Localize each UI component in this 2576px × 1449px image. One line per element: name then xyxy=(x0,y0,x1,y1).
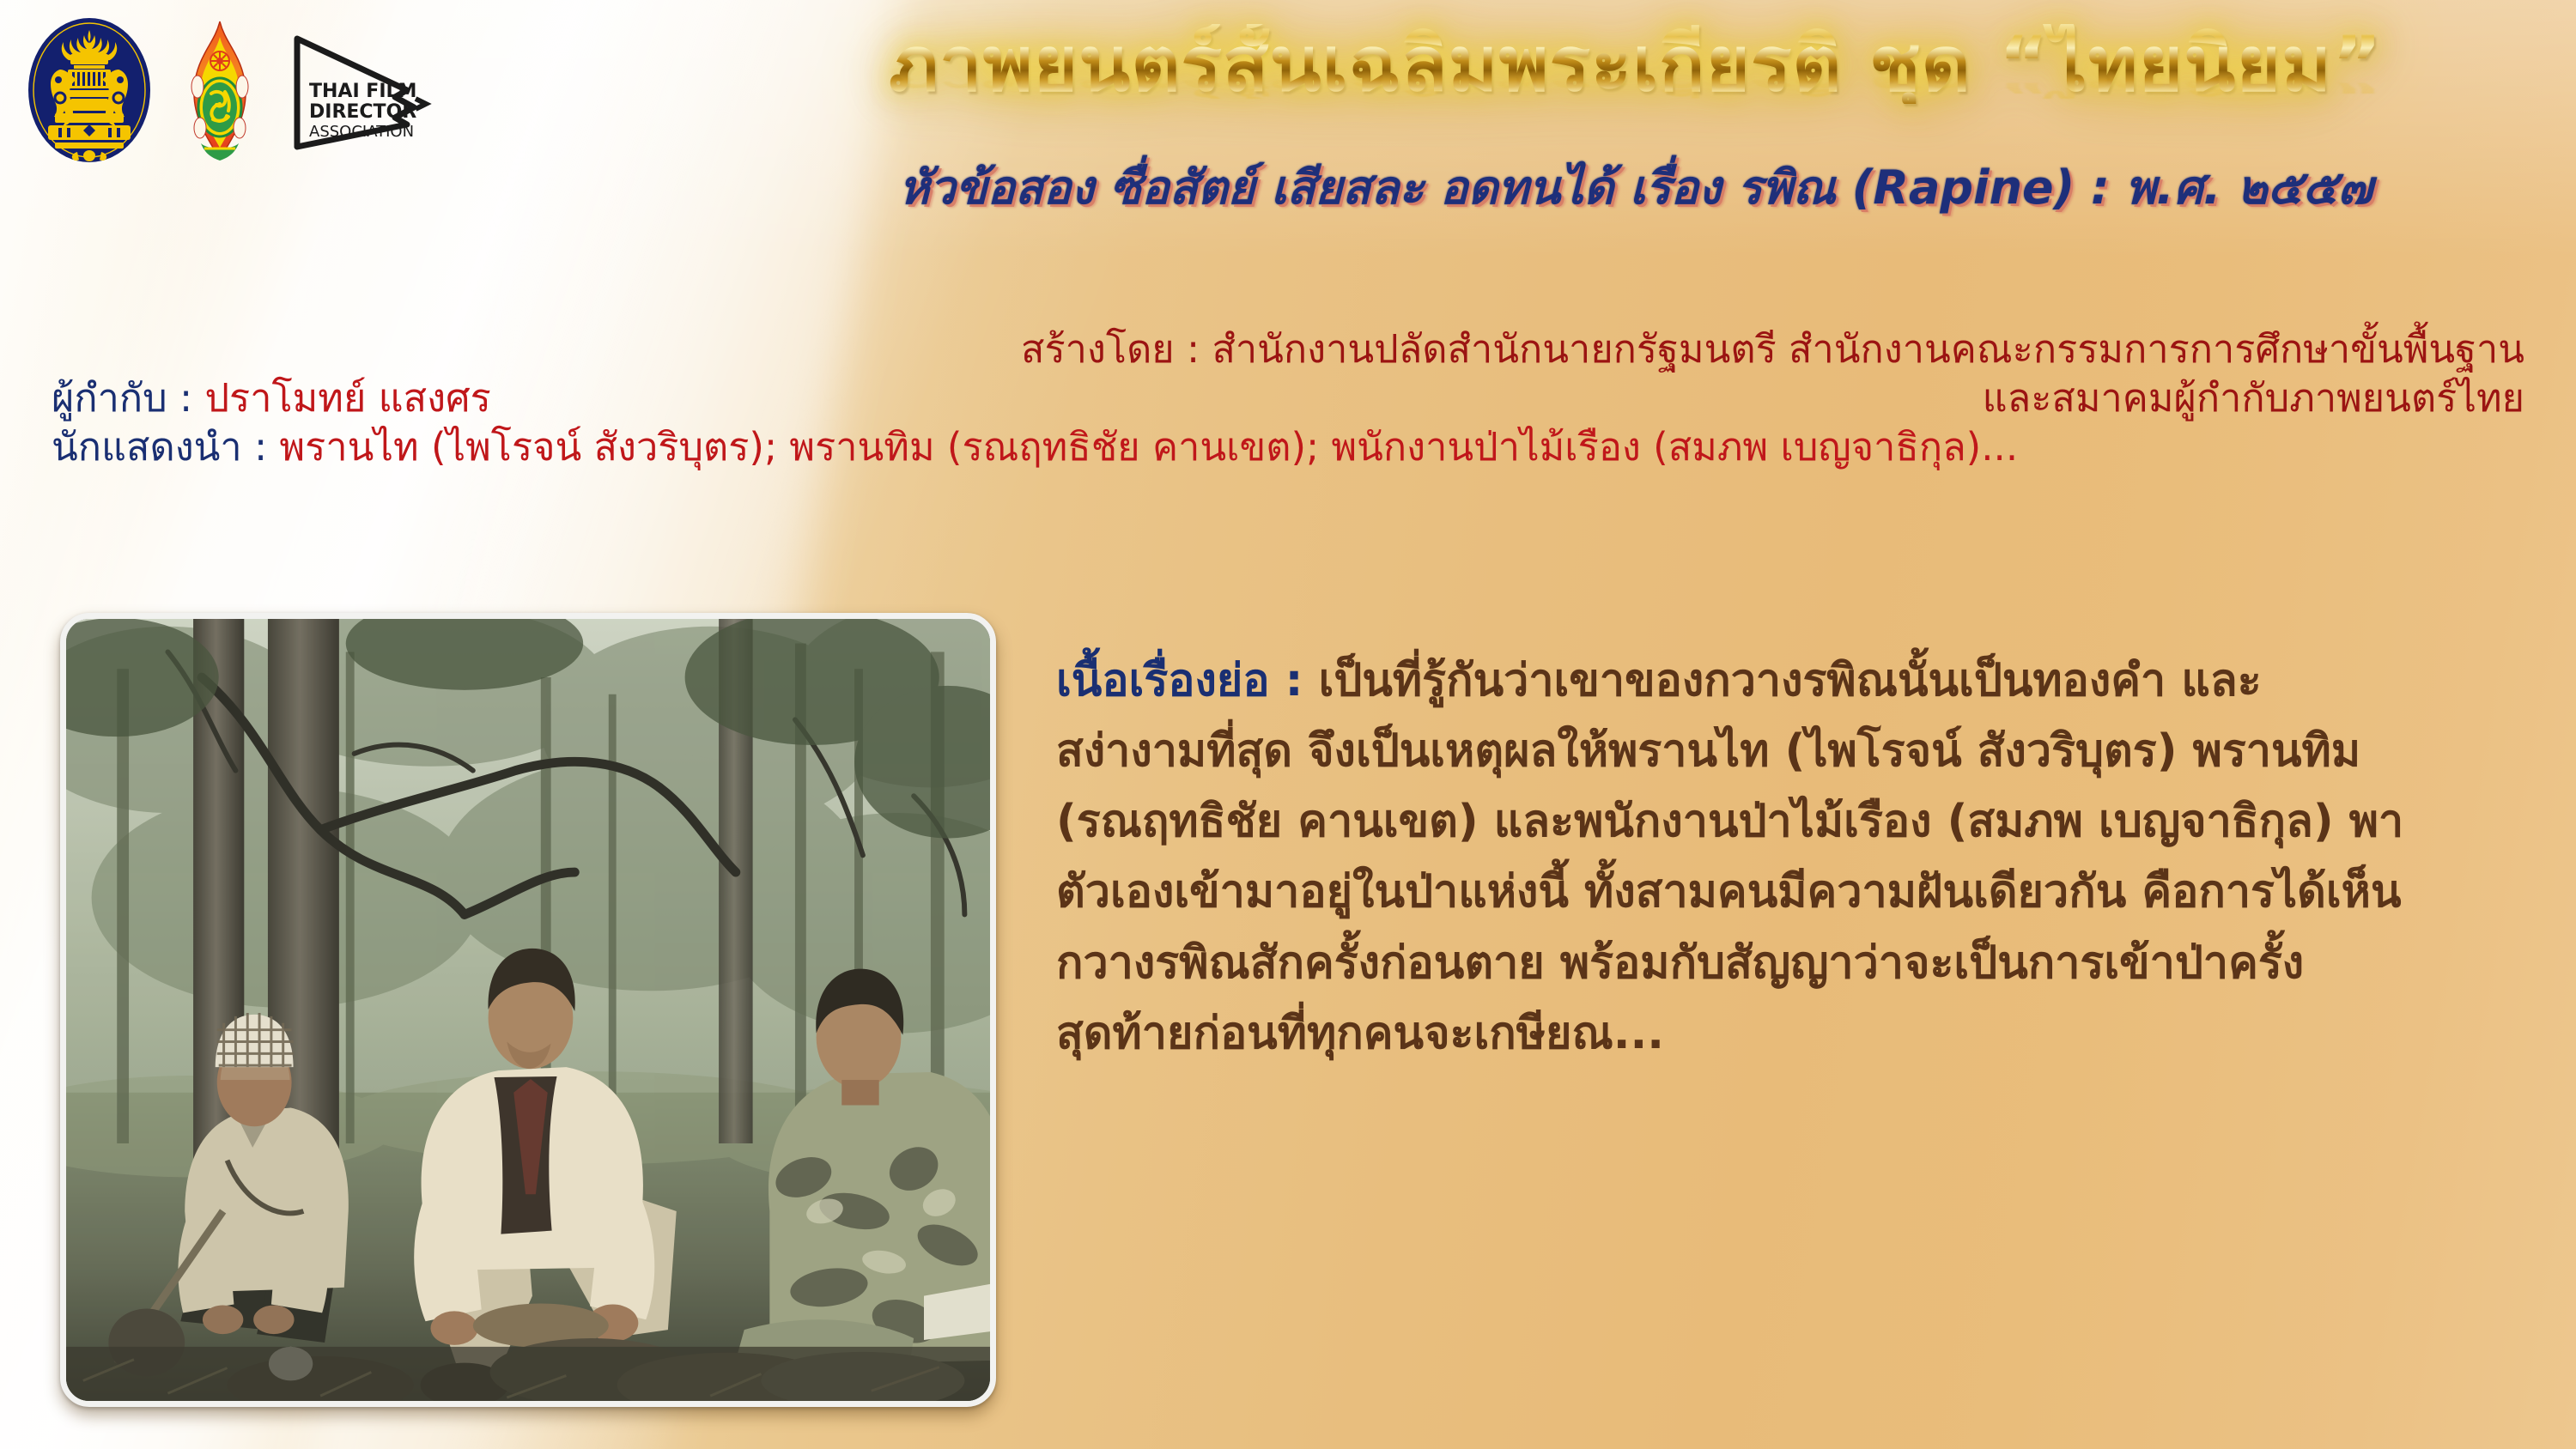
synopsis-line-6: สุดท้ายก่อนที่ทุกคนจะเกษียณ... xyxy=(1056,998,2550,1069)
logo-row: THAI FILM DIRECTOR ASSOCIATION xyxy=(26,17,437,163)
title-block: ภาพยนตร์สั้นเฉลิมพระเกียรติ ชุด “ไทยนิยม… xyxy=(713,24,2559,224)
director-label: ผู้กำกับ : xyxy=(52,375,204,421)
synopsis-label: เนื้อเรื่องย่อ : xyxy=(1056,655,1319,706)
synopsis-line-3: (รณฤทธิชัย คานเขต) และพนักงานป่าไม้เรือง… xyxy=(1056,786,2550,857)
synopsis-line-4: ตัวเองเข้ามาอยู่ในป่าแห่งนี้ ทั้งสามคนมี… xyxy=(1056,857,2550,927)
director-row: ผู้กำกับ : ปราโมทย์ แสงศร และสมาคมผู้กำก… xyxy=(52,373,2524,422)
tfda-line-3: ASSOCIATION xyxy=(309,123,414,141)
synopsis-line-2: สง่างามที่สุด จึงเป็นเหตุผลให้พรานไท (ไพ… xyxy=(1056,716,2550,786)
cast-entry: นักแสดงนำ : พรานไท (ไพโรจน์ สังวริบุตร);… xyxy=(52,422,2524,471)
thai-film-director-association-icon: THAI FILM DIRECTOR ASSOCIATION xyxy=(287,25,437,155)
director-value: ปราโมทย์ แสงศร xyxy=(204,375,490,421)
synopsis-line-1-text: เป็นที่รู้กันว่าเขาของกวางรพิณนั้นเป็นทอ… xyxy=(1319,655,2262,706)
synopsis-block: เนื้อเรื่องย่อ : เป็นที่รู้กันว่าเขาของก… xyxy=(1056,646,2550,1069)
cast-value: พรานไท (ไพโรจน์ สังวริบุตร); พรานทิม (รณ… xyxy=(279,424,2018,470)
film-still-photo xyxy=(60,613,996,1407)
producer-line: สร้างโดย : สำนักงานปลัดสำนักนายกรัฐมนตรี… xyxy=(52,324,2524,373)
cast-label: นักแสดงนำ : xyxy=(52,424,279,470)
page-subtitle: หัวข้อสอง ซื่อสัตย์ เสียสละ อดทนได้ เรื่… xyxy=(713,150,2559,224)
tfda-line-2: DIRECTOR xyxy=(309,101,416,123)
page-title: ภาพยนตร์สั้นเฉลิมพระเกียรติ ชุด “ไทยนิยม… xyxy=(713,24,2559,104)
synopsis-line-1: เนื้อเรื่องย่อ : เป็นที่รู้กันว่าเขาของก… xyxy=(1056,646,2550,716)
royal-thai-government-seal-icon xyxy=(26,16,153,164)
obec-emblem-icon xyxy=(172,18,268,162)
producer-line-2: และสมาคมผู้กำกับภาพยนตร์ไทย xyxy=(1983,373,2524,422)
synopsis-line-5: กวางรพิณสักครั้งก่อนตาย พร้อมกับสัญญาว่า… xyxy=(1056,928,2550,998)
tfda-line-1: THAI FILM xyxy=(309,81,416,102)
credits-block: สร้างโดย : สำนักงานปลัดสำนักนายกรัฐมนตรี… xyxy=(52,324,2524,471)
director-entry: ผู้กำกับ : ปราโมทย์ แสงศร xyxy=(52,373,491,422)
